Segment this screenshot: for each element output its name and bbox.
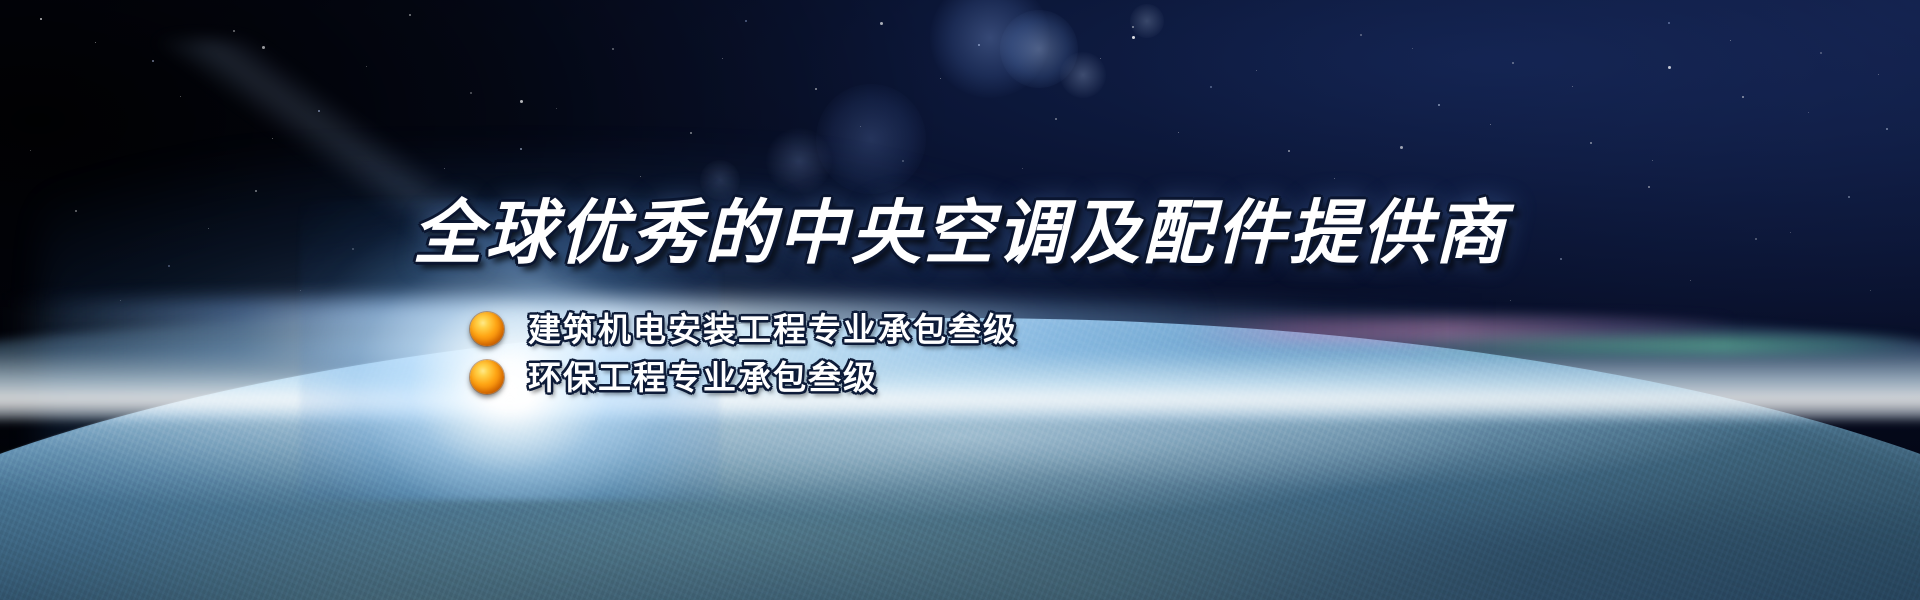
bullet-label: 环保工程专业承包叁级: [528, 361, 878, 394]
banner-bullet-list: 建筑机电安装工程专业承包叁级 环保工程专业承包叁级: [470, 312, 1018, 394]
banner-headline: 全球优秀的中央空调及配件提供商: [0, 198, 1920, 268]
orange-sphere-bullet-icon: [470, 312, 504, 346]
banner-content: 全球优秀的中央空调及配件提供商 建筑机电安装工程专业承包叁级 环保工程专业承包叁…: [0, 0, 1920, 600]
orange-sphere-bullet-icon: [470, 360, 504, 394]
list-item: 环保工程专业承包叁级: [470, 360, 1018, 394]
bullet-label: 建筑机电安装工程专业承包叁级: [528, 313, 1018, 346]
list-item: 建筑机电安装工程专业承包叁级: [470, 312, 1018, 346]
hero-banner: 全球优秀的中央空调及配件提供商 建筑机电安装工程专业承包叁级 环保工程专业承包叁…: [0, 0, 1920, 600]
